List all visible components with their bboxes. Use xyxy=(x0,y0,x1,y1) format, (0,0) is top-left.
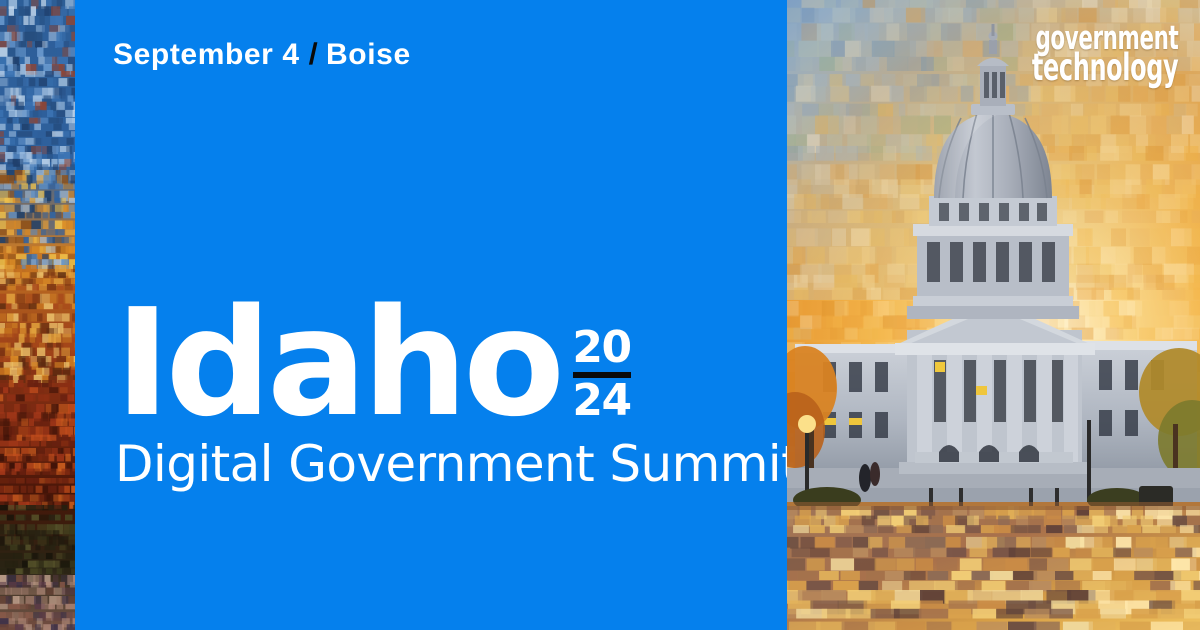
blue-content-panel: September 4 / Boise Idaho 20 24 Digital … xyxy=(75,0,787,630)
event-date: September 4 xyxy=(113,38,300,72)
event-subtitle: Digital Government Summit xyxy=(115,435,775,493)
capitol-mosaic-artwork: government technology xyxy=(787,0,1200,630)
year-bottom: 24 xyxy=(572,379,630,423)
state-name: Idaho xyxy=(115,300,560,427)
year-fraction: 20 24 xyxy=(572,326,630,423)
logo-line-technology: technology xyxy=(1032,52,1178,83)
event-city: Boise xyxy=(326,38,411,72)
event-date-location: September 4 / Boise xyxy=(113,38,411,72)
title-row: Idaho 20 24 xyxy=(115,300,775,427)
left-foliage-mosaic-strip xyxy=(0,0,75,630)
separator-slash: / xyxy=(299,38,327,72)
year-top: 20 xyxy=(572,326,630,370)
event-promo-banner: September 4 / Boise Idaho 20 24 Digital … xyxy=(0,0,1200,630)
government-technology-logo: government technology xyxy=(975,24,1178,83)
event-title-lockup: Idaho 20 24 Digital Government Summit xyxy=(115,300,775,493)
